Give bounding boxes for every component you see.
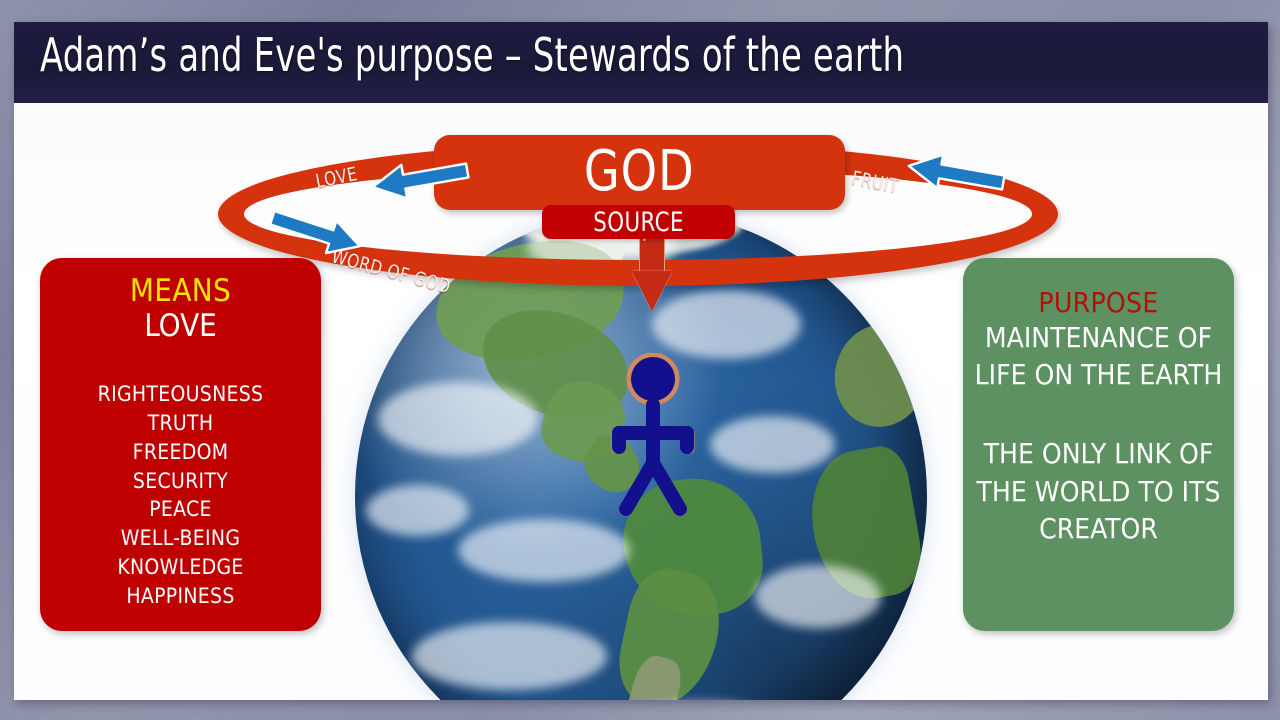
page-title: Adam’s and Eve's purpose – Stewards of t… <box>40 28 904 82</box>
take-arrow-head-icon <box>632 271 672 311</box>
purpose-panel: PURPOSE MAINTENANCE OF LIFE ON THE EARTH… <box>963 258 1234 631</box>
list-item: KNOWLEDGE <box>40 553 321 582</box>
means-panel: MEANS LOVE RIGHTEOUSNESS TRUTH FREEDOM S… <box>40 258 321 631</box>
slide-stage: Adam’s and Eve's purpose – Stewards of t… <box>0 0 1280 720</box>
means-subheading: LOVE <box>40 309 321 345</box>
purpose-paragraph-2: THE ONLY LINK OF THE WORLD TO ITS CREATO… <box>963 435 1234 547</box>
list-item: WELL-BEING <box>40 524 321 553</box>
list-item: FREEDOM <box>40 438 321 467</box>
means-list: RIGHTEOUSNESS TRUTH FREEDOM SECURITY PEA… <box>40 380 321 610</box>
globe-cloud-7 <box>755 565 881 628</box>
arrow-right-icon-word-of-god <box>266 209 366 255</box>
god-label: GOD <box>584 144 695 200</box>
list-item: PEACE <box>40 495 321 524</box>
slide-body: TAKE GOD SOURCE LOVE FRUIT WORD OF GOD <box>14 103 1268 700</box>
source-label: SOURCE <box>593 209 684 236</box>
source-box: SOURCE <box>542 205 735 239</box>
human-stick-figure-icon <box>610 353 696 521</box>
purpose-heading: PURPOSE <box>963 288 1234 319</box>
globe-cloud-5 <box>412 622 606 691</box>
list-item: TRUTH <box>40 409 321 438</box>
arrow-left-icon-love <box>364 158 474 200</box>
god-box: GOD <box>434 135 845 210</box>
list-item: RIGHTEOUSNESS <box>40 380 321 409</box>
globe-cloud-1 <box>378 382 538 456</box>
slide-canvas: Adam’s and Eve's purpose – Stewards of t… <box>14 22 1268 700</box>
globe-cloud-4 <box>710 416 836 473</box>
purpose-spacer <box>963 393 1234 435</box>
globe-landmass-africa-2 <box>826 316 927 436</box>
arrow-left-icon-fruit <box>900 153 1010 195</box>
means-heading: MEANS <box>40 274 321 309</box>
list-item: HAPPINESS <box>40 582 321 611</box>
globe-cloud-9 <box>366 485 469 536</box>
globe-cloud-3 <box>652 290 801 359</box>
globe-cloud-2 <box>458 519 630 582</box>
slide-title-bar: Adam’s and Eve's purpose – Stewards of t… <box>14 22 1268 103</box>
list-item: SECURITY <box>40 467 321 496</box>
purpose-paragraph-1: MAINTENANCE OF LIFE ON THE EARTH <box>963 319 1234 393</box>
